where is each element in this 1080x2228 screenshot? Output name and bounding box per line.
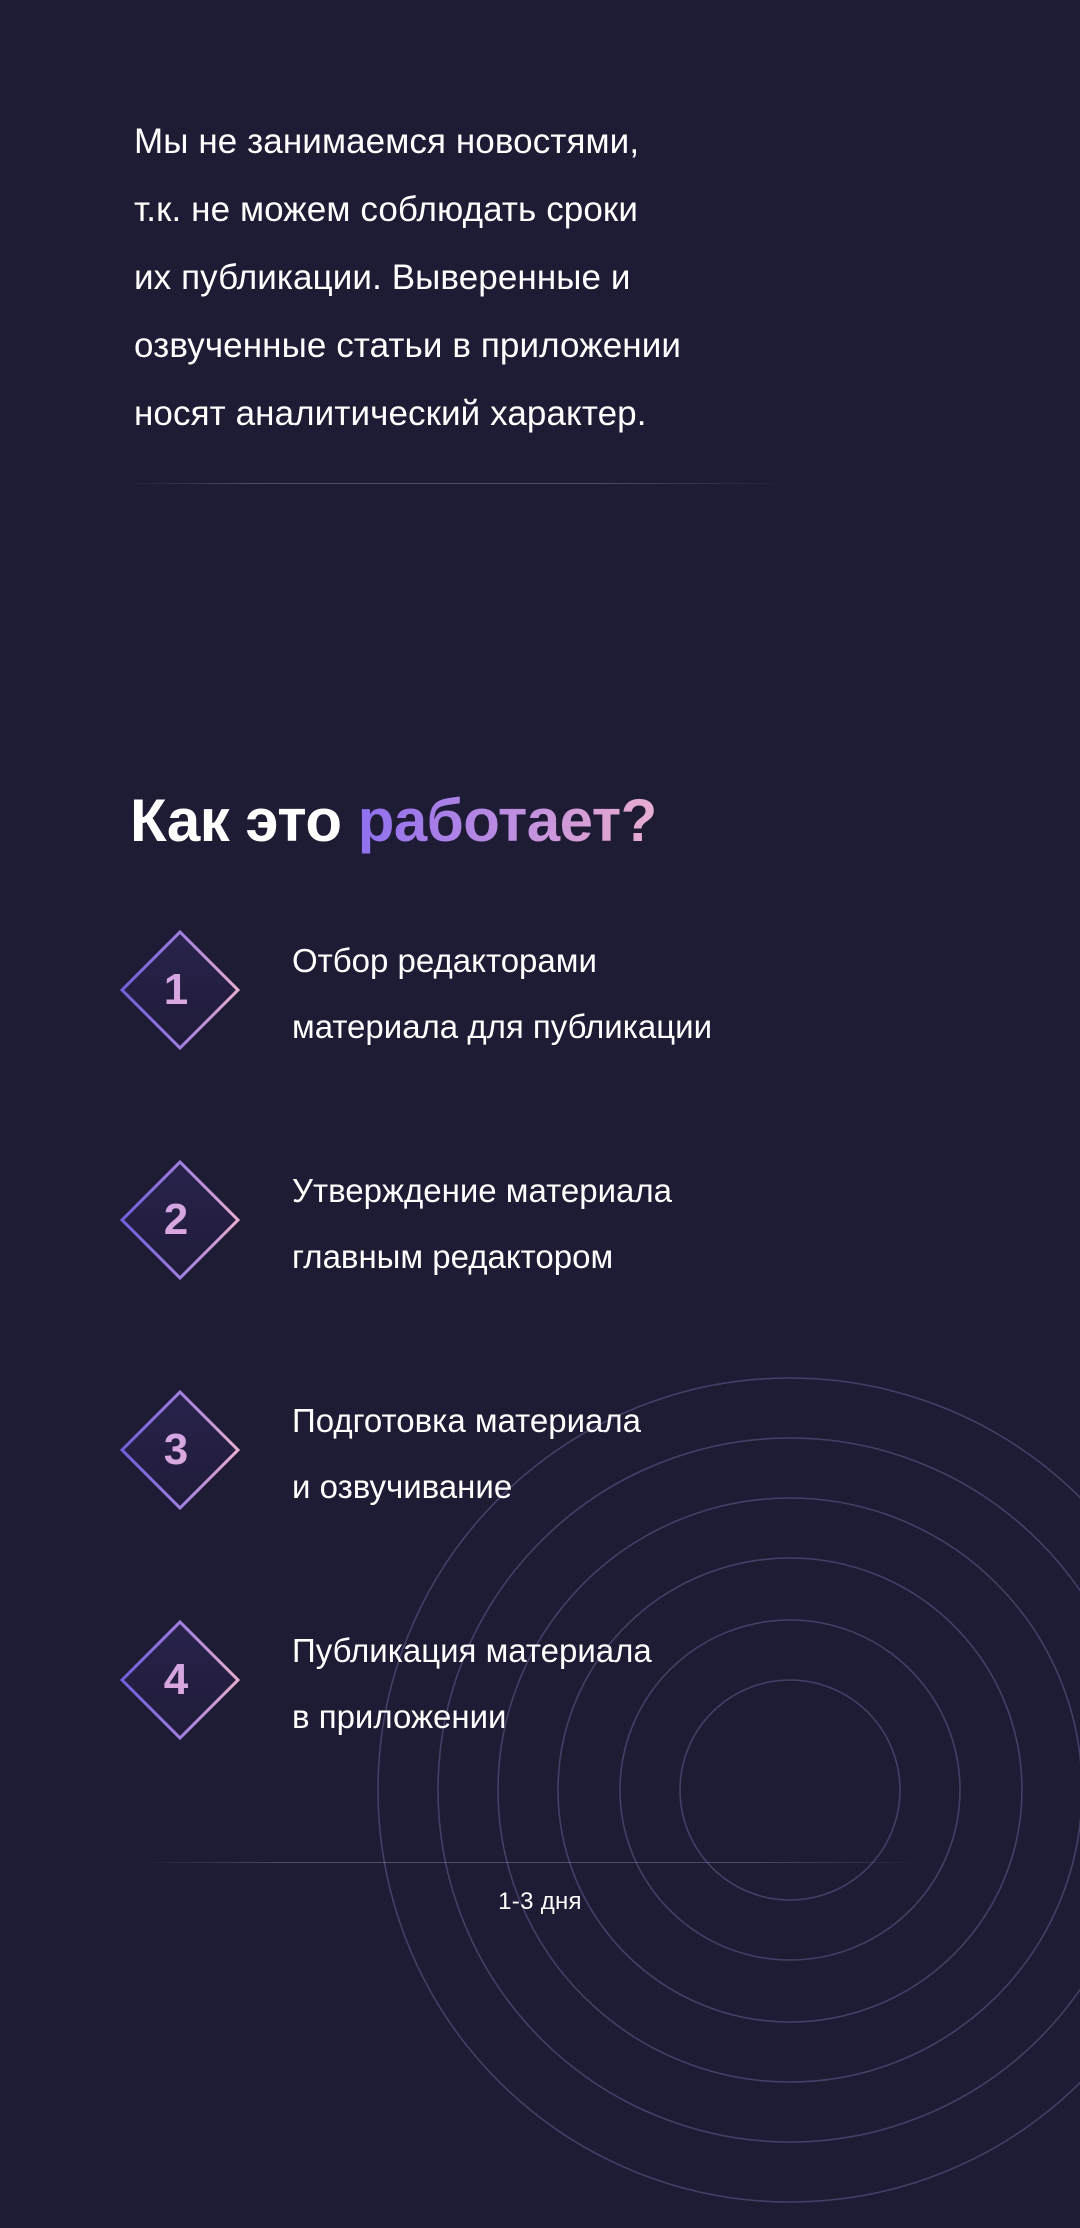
step-line: Утверждение материала xyxy=(292,1158,992,1224)
diamond-outline-icon: 2 xyxy=(118,1158,242,1282)
diamond-outline-icon: 1 xyxy=(118,928,242,1052)
step-line: Подготовка материала xyxy=(292,1388,992,1454)
divider-bottom xyxy=(152,1862,912,1863)
step-number: 2 xyxy=(118,1158,242,1282)
intro-line: Мы не занимаемся новостями, xyxy=(134,108,914,176)
step-description: Публикация материала в приложении xyxy=(292,1618,992,1750)
step-number: 4 xyxy=(118,1618,242,1742)
intro-line: т.к. не можем соблюдать сроки xyxy=(134,176,914,244)
intro-paragraph: Мы не занимаемся новостями, т.к. не може… xyxy=(134,108,914,448)
page-title-plain: Как это xyxy=(130,787,358,854)
list-item: 4 Публикация материала в приложении xyxy=(0,1610,1080,1840)
step-number: 1 xyxy=(118,928,242,1052)
diamond-outline-icon: 4 xyxy=(118,1618,242,1742)
step-line: Публикация материала xyxy=(292,1618,992,1684)
intro-line: их публикации. Выверенные и xyxy=(134,244,914,312)
step-line: главным редактором xyxy=(292,1224,992,1290)
page-title: Как это работает? xyxy=(130,786,657,855)
step-description: Подготовка материала и озвучивание xyxy=(292,1388,992,1520)
step-line: материала для публикации xyxy=(292,994,992,1060)
intro-line: носят аналитический характер. xyxy=(134,380,914,448)
divider-top xyxy=(134,483,774,484)
list-item: 3 Подготовка материала и озвучивание xyxy=(0,1380,1080,1610)
step-number: 3 xyxy=(118,1388,242,1512)
diamond-outline-icon: 3 xyxy=(118,1388,242,1512)
list-item: 1 Отбор редакторами материала для публик… xyxy=(0,920,1080,1150)
step-description: Утверждение материала главным редактором xyxy=(292,1158,992,1290)
step-line: и озвучивание xyxy=(292,1454,992,1520)
step-line: в приложении xyxy=(292,1684,992,1750)
duration-label: 1-3 дня xyxy=(0,1888,1080,1916)
step-line: Отбор редакторами xyxy=(292,928,992,994)
page-title-accent: работает? xyxy=(358,787,657,854)
steps-list: 1 Отбор редакторами материала для публик… xyxy=(0,920,1080,1840)
intro-line: озвученные статьи в приложении xyxy=(134,312,914,380)
list-item: 2 Утверждение материала главным редактор… xyxy=(0,1150,1080,1380)
step-description: Отбор редакторами материала для публикац… xyxy=(292,928,992,1060)
page-root: Мы не занимаемся новостями, т.к. не може… xyxy=(0,0,1080,2228)
